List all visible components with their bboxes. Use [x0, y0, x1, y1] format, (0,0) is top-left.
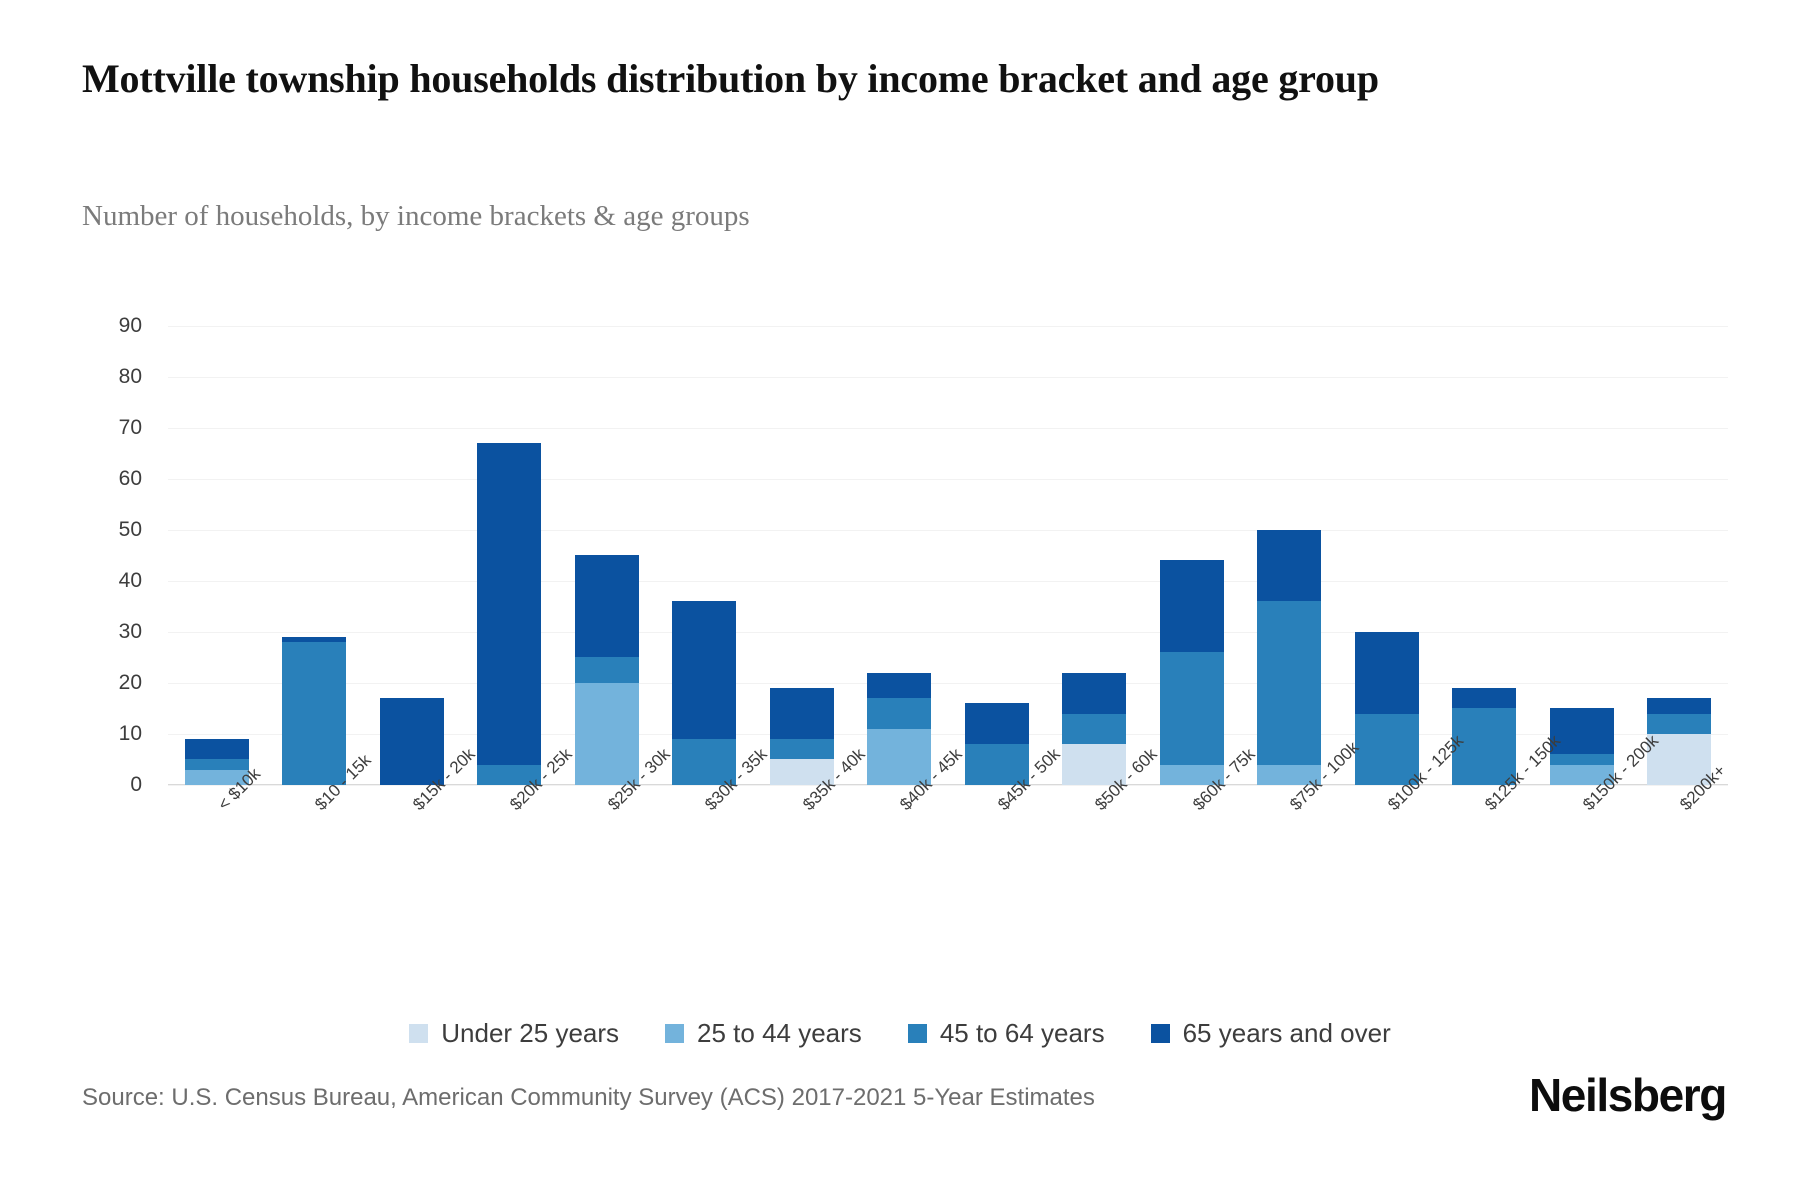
- bar-slot[interactable]: [1046, 300, 1144, 785]
- bar-segment[interactable]: [575, 555, 639, 657]
- page-title: Mottville township households distributi…: [82, 52, 1642, 106]
- bar-segment[interactable]: [282, 642, 346, 785]
- x-axis-label-slot: $25k - 30k: [558, 789, 656, 899]
- bar-segment[interactable]: [672, 601, 736, 739]
- x-axis-label-slot: $10 - 15k: [266, 789, 364, 899]
- legend-swatch-icon: [908, 1024, 927, 1043]
- bar-segment[interactable]: [1257, 530, 1321, 601]
- stacked-bar[interactable]: [575, 555, 639, 785]
- page-subtitle: Number of households, by income brackets…: [82, 200, 1482, 233]
- y-axis-tick-label: 0: [82, 773, 142, 797]
- x-axis-label-slot: $150k - 200k: [1533, 789, 1631, 899]
- x-axis-label-slot: $60k - 75k: [1143, 789, 1241, 899]
- bar-segment[interactable]: [1062, 714, 1126, 745]
- x-axis-labels: < $10k$10 - 15k$15k - 20k$20k - 25k$25k …: [168, 789, 1728, 899]
- bar-slot[interactable]: [461, 300, 559, 785]
- bar-slot[interactable]: [266, 300, 364, 785]
- stacked-bar[interactable]: [867, 673, 931, 785]
- bar-group-container: [168, 300, 1728, 785]
- stacked-bar[interactable]: [965, 703, 1029, 785]
- bar-slot[interactable]: [1533, 300, 1631, 785]
- y-axis-tick-label: 20: [82, 671, 142, 695]
- stacked-bar[interactable]: [380, 698, 444, 785]
- bar-segment[interactable]: [1647, 714, 1711, 734]
- bar-slot[interactable]: [851, 300, 949, 785]
- stacked-bar[interactable]: [1160, 560, 1224, 785]
- bar-segment[interactable]: [1257, 601, 1321, 764]
- bar-slot[interactable]: [363, 300, 461, 785]
- bar-segment[interactable]: [770, 739, 834, 759]
- x-axis-label-slot: $40k - 45k: [851, 789, 949, 899]
- y-axis-tick-label: 40: [82, 569, 142, 593]
- bar-segment[interactable]: [867, 698, 931, 729]
- bar-segment[interactable]: [1355, 632, 1419, 714]
- bar-slot[interactable]: [1241, 300, 1339, 785]
- legend-item[interactable]: 25 to 44 years: [665, 1018, 862, 1049]
- stacked-bar[interactable]: [1452, 688, 1516, 785]
- bar-segment[interactable]: [867, 673, 931, 699]
- bar-slot[interactable]: [948, 300, 1046, 785]
- bar-segment[interactable]: [380, 698, 444, 785]
- legend-label: 65 years and over: [1183, 1018, 1391, 1049]
- stacked-bar[interactable]: [282, 637, 346, 785]
- bar-segment[interactable]: [185, 759, 249, 769]
- legend-swatch-icon: [665, 1024, 684, 1043]
- brand-logo: Neilsberg: [1529, 1068, 1726, 1122]
- legend-swatch-icon: [1151, 1024, 1170, 1043]
- stacked-bar[interactable]: [477, 443, 541, 785]
- legend-item[interactable]: 45 to 64 years: [908, 1018, 1105, 1049]
- stacked-bar[interactable]: [1257, 530, 1321, 785]
- bar-slot[interactable]: [656, 300, 754, 785]
- stacked-bar[interactable]: [672, 601, 736, 785]
- legend-label: 25 to 44 years: [697, 1018, 862, 1049]
- x-axis-label-slot: $15k - 20k: [363, 789, 461, 899]
- x-axis-label-slot: < $10k: [168, 789, 266, 899]
- chart-plot-area: 0102030405060708090: [168, 300, 1728, 785]
- x-axis-label-slot: $20k - 25k: [461, 789, 559, 899]
- stacked-bar[interactable]: [1355, 632, 1419, 785]
- bar-segment[interactable]: [1062, 673, 1126, 714]
- y-axis-tick-label: 90: [82, 314, 142, 338]
- x-axis-label-slot: $50k - 60k: [1046, 789, 1144, 899]
- legend-swatch-icon: [409, 1024, 428, 1043]
- bar-segment[interactable]: [1452, 688, 1516, 708]
- bar-segment[interactable]: [770, 688, 834, 739]
- x-axis-label-slot: $200k+: [1631, 789, 1729, 899]
- bar-segment[interactable]: [575, 683, 639, 785]
- y-axis-tick-label: 50: [82, 518, 142, 542]
- chart-legend: Under 25 years25 to 44 years45 to 64 yea…: [0, 1018, 1800, 1049]
- bar-segment[interactable]: [575, 657, 639, 683]
- stacked-bar[interactable]: [1062, 673, 1126, 785]
- bar-segment[interactable]: [965, 703, 1029, 744]
- x-axis-label-slot: $45k - 50k: [948, 789, 1046, 899]
- stacked-bar[interactable]: [770, 688, 834, 785]
- legend-item[interactable]: 65 years and over: [1151, 1018, 1391, 1049]
- bar-segment[interactable]: [477, 443, 541, 765]
- legend-item[interactable]: Under 25 years: [409, 1018, 619, 1049]
- y-axis-tick-label: 10: [82, 722, 142, 746]
- x-axis-label-slot: $30k - 35k: [656, 789, 754, 899]
- bar-slot[interactable]: [1143, 300, 1241, 785]
- bar-slot[interactable]: [1631, 300, 1729, 785]
- y-axis-tick-label: 80: [82, 365, 142, 389]
- bar-slot[interactable]: [558, 300, 656, 785]
- y-axis-tick-label: 60: [82, 467, 142, 491]
- bar-segment[interactable]: [1647, 698, 1711, 713]
- bar-slot[interactable]: [168, 300, 266, 785]
- bar-slot[interactable]: [1338, 300, 1436, 785]
- legend-label: 45 to 64 years: [940, 1018, 1105, 1049]
- x-axis-label-slot: $100k - 125k: [1338, 789, 1436, 899]
- x-axis-label-slot: $125k - 150k: [1436, 789, 1534, 899]
- bar-segment[interactable]: [185, 739, 249, 759]
- bar-segment[interactable]: [1160, 652, 1224, 764]
- bar-segment[interactable]: [1550, 754, 1614, 764]
- bar-slot[interactable]: [753, 300, 851, 785]
- y-axis-tick-label: 70: [82, 416, 142, 440]
- bar-slot[interactable]: [1436, 300, 1534, 785]
- y-axis-tick-label: 30: [82, 620, 142, 644]
- legend-label: Under 25 years: [441, 1018, 619, 1049]
- x-axis-label-slot: $75k - 100k: [1241, 789, 1339, 899]
- bar-segment[interactable]: [1160, 560, 1224, 652]
- x-axis-label-slot: $35k - 40k: [753, 789, 851, 899]
- source-note: Source: U.S. Census Bureau, American Com…: [82, 1084, 1095, 1112]
